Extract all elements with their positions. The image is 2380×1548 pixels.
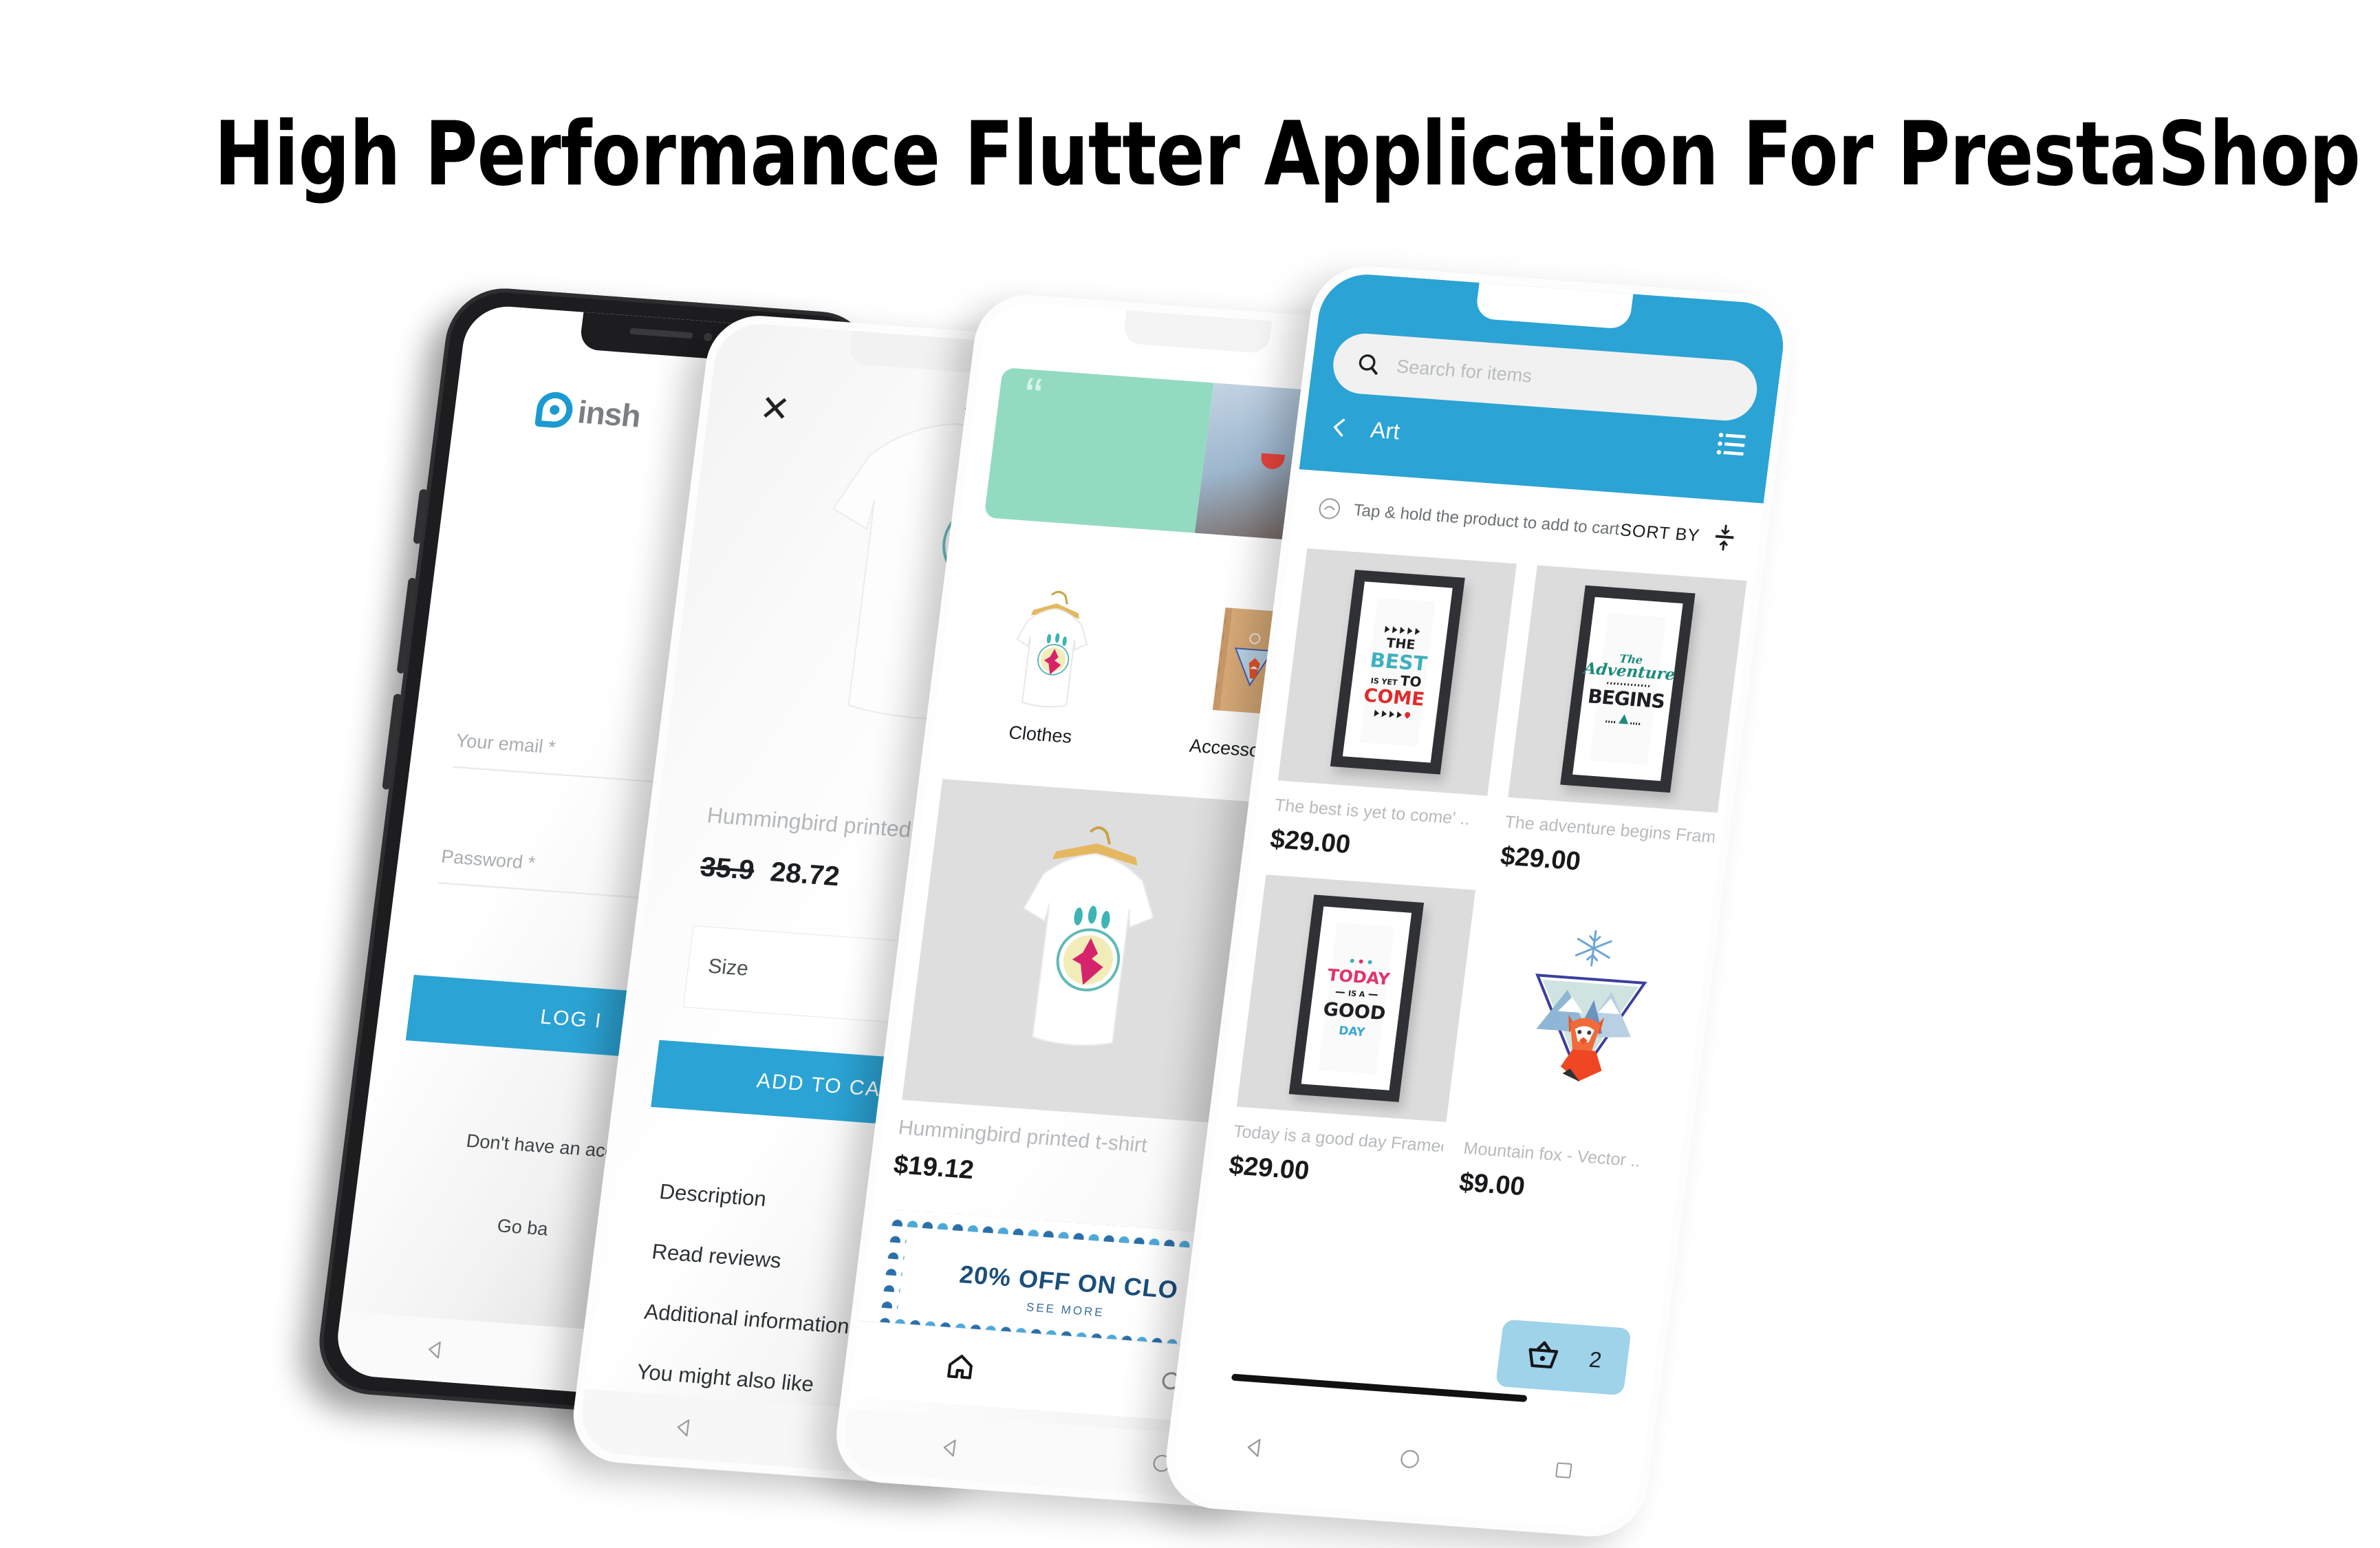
tap-hold-icon (1317, 496, 1343, 521)
picture-frame: TODAY IS A GOOD DAY (1288, 894, 1423, 1101)
art-line-2: Adventure (1583, 660, 1676, 683)
product-price: $29.00 (1268, 825, 1482, 870)
logo-wordmark: insh (576, 393, 642, 434)
go-back-link[interactable]: Go ba (496, 1215, 549, 1240)
hint-text: Tap & hold the product to add to cart (1352, 501, 1621, 539)
signup-link[interactable]: Don't have an acco (465, 1130, 626, 1163)
product-grid: THE BEST IS YET TO COME (1227, 548, 1746, 1213)
scroll-indicator[interactable] (1231, 1374, 1528, 1402)
art-line-3a: IS YET (1370, 677, 1398, 687)
shopping-basket-icon (1524, 1340, 1561, 1372)
product-image (902, 779, 1265, 1124)
back-triangle-icon[interactable] (422, 1337, 448, 1362)
recents-square-icon[interactable] (1552, 1459, 1577, 1482)
home-circle-icon[interactable] (1396, 1447, 1422, 1472)
product-name: The best is yet to come' .. (1273, 795, 1485, 830)
product-card[interactable]: THE BEST IS YET TO COME (1268, 548, 1517, 870)
product-name: Mountain fox - Vector .. (1462, 1139, 1674, 1174)
snowflake-icon (1575, 930, 1612, 967)
sort-by-label[interactable]: SORT BY (1619, 520, 1701, 546)
art-tent (1605, 713, 1643, 725)
art-deco-bottom (1374, 709, 1410, 719)
speaker-grille (629, 328, 693, 339)
android-nav-bar (1171, 1404, 1645, 1514)
logo-b-icon (534, 391, 574, 429)
art-deco-top (1385, 625, 1420, 635)
art-line-4: COME (1363, 686, 1425, 709)
product-image: The Adventure BEGINS (1508, 566, 1746, 813)
product-card[interactable]: The Adventure BEGINS (1499, 566, 1747, 887)
tshirt-hanger-icon (958, 574, 1145, 717)
search-icon (1354, 350, 1383, 378)
list-view-icon[interactable] (1716, 431, 1749, 458)
old-price: 35.9 (699, 852, 756, 885)
size-label: Size (706, 955, 750, 981)
search-placeholder: Search for items (1396, 356, 1533, 387)
close-icon[interactable]: ✕ (758, 390, 792, 428)
product-name: Today is a good day Framed .. (1232, 1121, 1444, 1157)
product-price: $29.00 (1227, 1151, 1440, 1196)
chevron-left-icon[interactable] (1327, 415, 1353, 440)
breadcrumb: Art (1326, 413, 1401, 444)
product-image: THE BEST IS YET TO COME (1278, 548, 1517, 796)
product-price: $29.00 (1499, 841, 1712, 886)
picture-frame: The Adventure BEGINS (1560, 585, 1695, 793)
category-clothes[interactable]: Clothes (953, 574, 1146, 751)
product-card[interactable]: TODAY IS A GOOD DAY (1227, 874, 1475, 1196)
art-dots (1350, 958, 1372, 964)
tab-home[interactable] (942, 1350, 978, 1384)
product-price: $9.00 (1458, 1168, 1671, 1213)
art-line-3: GOOD (1322, 1000, 1387, 1022)
cart-count-badge: 2 (1588, 1346, 1603, 1373)
product-card[interactable]: Mountain fox - Vector .. $9.00 (1458, 892, 1706, 1213)
new-price: 28.72 (769, 857, 841, 892)
phone-mockup-stage: insh Your email * Password * LOG I Don't… (0, 0, 2380, 1548)
product-image: TODAY IS A GOOD DAY (1237, 874, 1475, 1122)
product-name: The adventure begins Frame.. (1504, 813, 1716, 848)
picture-frame: THE BEST IS YET TO COME (1330, 570, 1464, 774)
art-line-2: BEST (1369, 650, 1428, 674)
art-line-3b: TO (1400, 674, 1422, 689)
art-line-3: BEGINS (1587, 687, 1666, 711)
back-triangle-icon[interactable] (1240, 1434, 1268, 1461)
back-triangle-icon[interactable] (937, 1435, 963, 1460)
breadcrumb-title: Art (1369, 417, 1401, 445)
product-image (1467, 892, 1705, 1139)
app-logo: insh (534, 390, 642, 435)
art-line-1: TODAY (1327, 967, 1391, 987)
carousel-slide-quote (984, 367, 1213, 533)
sort-icon[interactable] (1712, 524, 1738, 551)
cart-button[interactable]: 2 (1495, 1319, 1632, 1395)
category-label: Clothes (953, 718, 1128, 752)
art-line-2: IS A (1348, 989, 1365, 998)
product-price-row: 35.928.72 (699, 852, 841, 892)
back-triangle-icon[interactable] (671, 1415, 697, 1440)
art-line-4: DAY (1338, 1025, 1365, 1039)
